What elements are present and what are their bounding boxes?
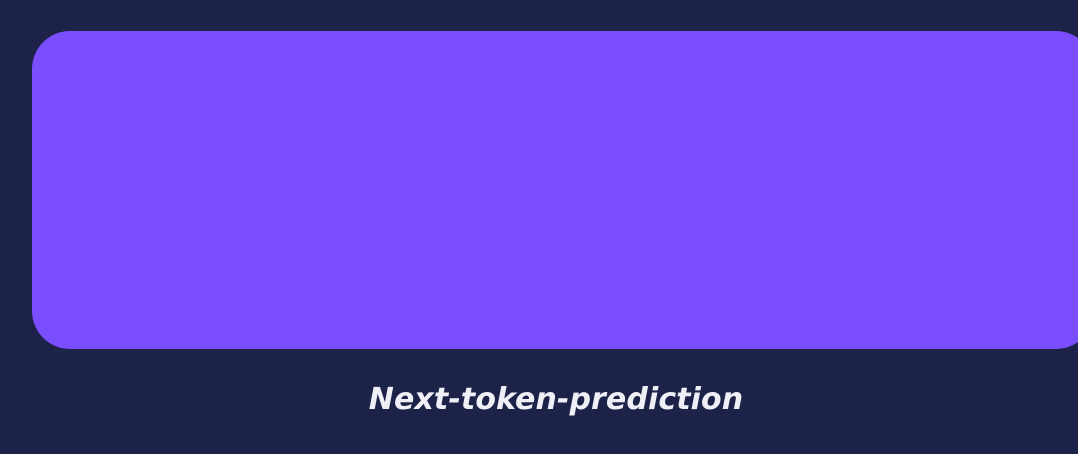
diagram-caption: Next-token-prediction [369, 385, 743, 415]
diagram-canvas: Next-token-prediction [0, 0, 1078, 454]
caption-row: Next-token-prediction [0, 372, 1078, 428]
next-token-prediction-block[interactable] [32, 31, 1078, 349]
